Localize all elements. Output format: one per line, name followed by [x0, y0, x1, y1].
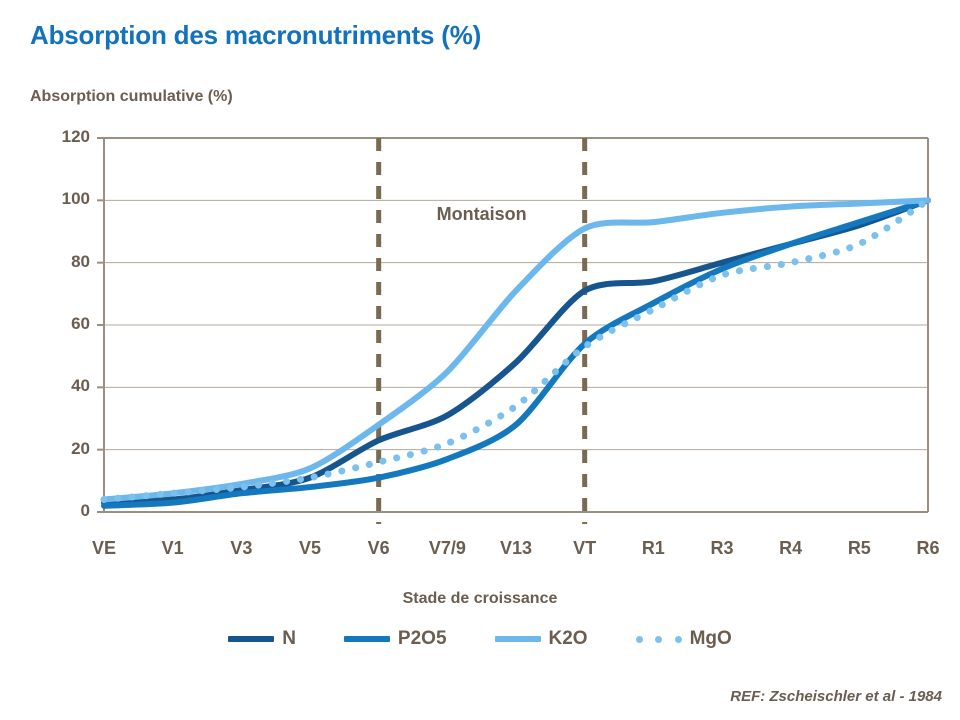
- legend-swatch-k2o-icon: [495, 636, 541, 642]
- legend-swatch-mgo-icon: [636, 636, 682, 643]
- legend-item-k2o[interactable]: K2O: [495, 628, 588, 650]
- y-tick-label: 120: [18, 127, 90, 147]
- x-axis-title: Stade de croissance: [0, 590, 960, 608]
- legend-item-p2o5[interactable]: P2O5: [344, 628, 447, 650]
- chart-legend: NP2O5K2OMgO: [0, 628, 960, 650]
- montaison-band-label: Montaison: [402, 204, 562, 225]
- y-tick-label: 40: [18, 376, 90, 396]
- y-tick-label: 20: [18, 439, 90, 459]
- series-line-n: [104, 200, 928, 502]
- series-line-k2o: [104, 200, 928, 499]
- x-tick-label: R6: [888, 538, 960, 559]
- y-tick-label: 100: [18, 189, 90, 209]
- legend-swatch-p2o5-icon: [344, 636, 390, 642]
- legend-label: K2O: [549, 628, 588, 650]
- series-line-p2o5: [104, 200, 928, 505]
- y-tick-label: 60: [18, 314, 90, 334]
- y-tick-label: 80: [18, 252, 90, 272]
- reference-note: REF: Zscheischler et al - 1984: [730, 688, 942, 705]
- chart-container: Absorption des macronutriments (%) Absor…: [0, 0, 960, 720]
- legend-item-mgo[interactable]: MgO: [636, 628, 732, 650]
- legend-label: MgO: [690, 628, 732, 650]
- plot-area: [0, 0, 960, 720]
- series-line-mgo: [104, 200, 928, 499]
- legend-item-n[interactable]: N: [228, 628, 296, 650]
- y-tick-label: 0: [18, 501, 90, 521]
- legend-swatch-n-icon: [228, 636, 274, 642]
- legend-label: P2O5: [398, 628, 447, 650]
- legend-label: N: [282, 628, 296, 650]
